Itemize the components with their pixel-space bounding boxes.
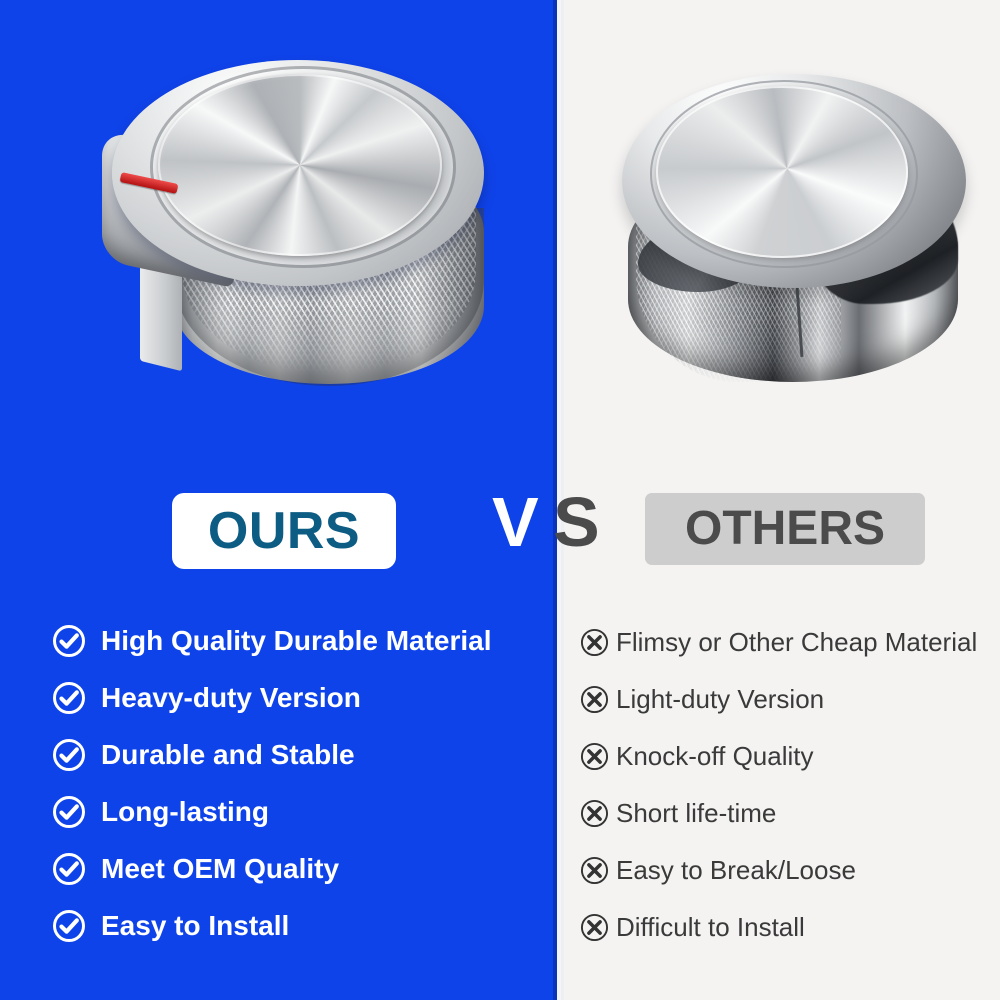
ours-knob-top-ring — [150, 66, 456, 268]
list-item-label: Knock-off Quality — [616, 741, 814, 772]
list-item-label: Difficult to Install — [616, 912, 805, 943]
x-circle-icon — [580, 742, 609, 771]
ours-product-image — [96, 58, 494, 406]
list-item-label: Meet OEM Quality — [101, 853, 339, 885]
x-circle-icon — [580, 913, 609, 942]
list-item-label: Easy to Install — [101, 910, 289, 942]
x-circle-icon — [580, 856, 609, 885]
list-item-label: Light-duty Version — [616, 684, 824, 715]
list-item-label: Short life-time — [616, 798, 776, 829]
list-item: Meet OEM Quality — [52, 840, 532, 897]
list-item: Easy to Break/Loose — [580, 842, 995, 899]
ours-feature-list: High Quality Durable Material Heavy-duty… — [52, 612, 532, 954]
list-item-label: Easy to Break/Loose — [616, 855, 856, 886]
list-item: Easy to Install — [52, 897, 532, 954]
others-badge: OTHERS — [645, 493, 925, 565]
ours-badge: OURS — [172, 493, 396, 569]
others-badge-label: OTHERS — [685, 505, 885, 553]
list-item-label: High Quality Durable Material — [101, 625, 492, 657]
check-circle-icon — [52, 738, 86, 772]
check-circle-icon — [52, 681, 86, 715]
list-item: Durable and Stable — [52, 726, 532, 783]
check-circle-icon — [52, 909, 86, 943]
x-circle-icon — [580, 799, 609, 828]
list-item: Flimsy or Other Cheap Material — [580, 614, 995, 671]
list-item-label: Heavy-duty Version — [101, 682, 361, 714]
ours-badge-label: OURS — [208, 505, 360, 557]
list-item: Light-duty Version — [580, 671, 995, 728]
check-circle-icon — [52, 624, 86, 658]
list-item-label: Flimsy or Other Cheap Material — [616, 627, 977, 658]
list-item: Long-lasting — [52, 783, 532, 840]
others-feature-list: Flimsy or Other Cheap Material Light-dut… — [580, 614, 995, 956]
list-item: Knock-off Quality — [580, 728, 995, 785]
versus-s-letter: S — [553, 487, 600, 557]
x-circle-icon — [580, 628, 609, 657]
x-circle-icon — [580, 685, 609, 714]
others-product-image — [612, 72, 982, 402]
check-circle-icon — [52, 852, 86, 886]
versus-v-letter: V — [492, 487, 539, 557]
others-knob-top-ring — [650, 80, 918, 268]
list-item-label: Long-lasting — [101, 796, 269, 828]
list-item: Short life-time — [580, 785, 995, 842]
check-circle-icon — [52, 795, 86, 829]
list-item: Difficult to Install — [580, 899, 995, 956]
list-item: Heavy-duty Version — [52, 669, 532, 726]
list-item-label: Durable and Stable — [101, 739, 355, 771]
list-item: High Quality Durable Material — [52, 612, 532, 669]
comparison-infographic: OURS V S OTHERS High Quality Durable Mat… — [0, 0, 1000, 1000]
